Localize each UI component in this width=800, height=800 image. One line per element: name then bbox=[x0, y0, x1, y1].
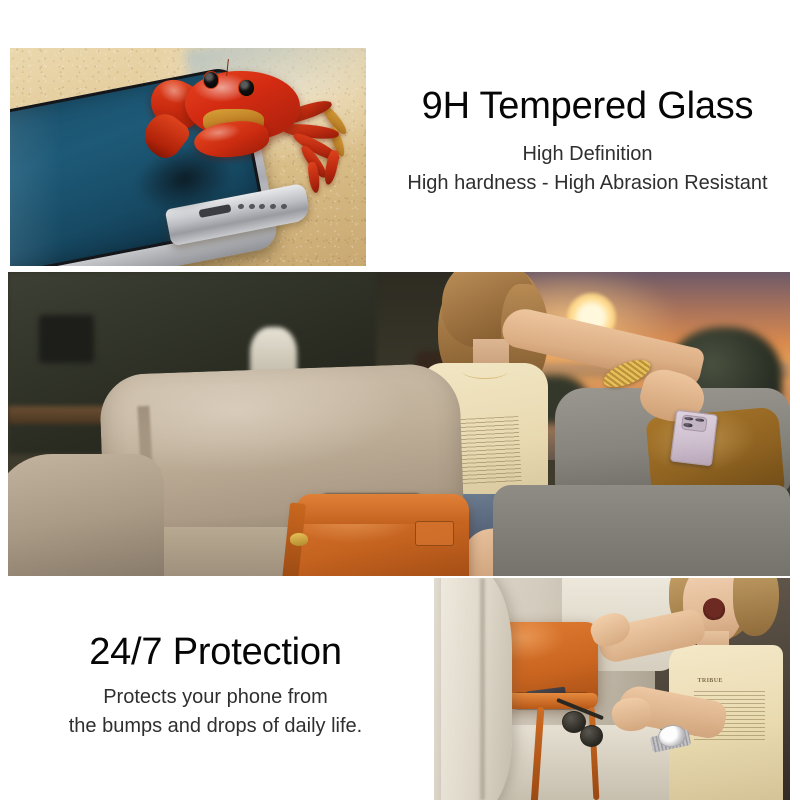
tempered-glass-headline: 9H Tempered Glass bbox=[380, 86, 795, 126]
handbag-flap bbox=[297, 494, 469, 524]
protection-headline: 24/7 Protection bbox=[18, 632, 413, 672]
phone-camera-module bbox=[680, 414, 707, 432]
protection-subtitle-line-1: Protects your phone from bbox=[18, 683, 413, 711]
tempered-glass-text-block: 9H Tempered Glass High Definition High h… bbox=[380, 86, 795, 197]
tank-top-label: TRIBUE bbox=[697, 678, 722, 684]
beige-sofa-armrest bbox=[8, 454, 164, 576]
red-crab bbox=[145, 59, 366, 216]
living-room-photo bbox=[8, 272, 790, 576]
sofa-wing-seam bbox=[480, 578, 485, 800]
protection-subtitle-line-2: the bumps and drops of daily life. bbox=[18, 712, 413, 740]
handbag-tag bbox=[415, 521, 454, 545]
shocked-woman-photo: TRIBUE bbox=[434, 578, 790, 800]
sofa-wing-armrest bbox=[441, 578, 512, 800]
held-smartphone bbox=[670, 409, 718, 465]
crab-eye bbox=[203, 71, 220, 88]
crab-on-phone-photo bbox=[10, 48, 366, 266]
tempered-glass-subtitle-line-2: High hardness - High Abrasion Resistant bbox=[380, 169, 795, 197]
grey-sofa-seat bbox=[493, 485, 790, 576]
sunglasses-lens bbox=[580, 725, 603, 747]
handbag-clasp bbox=[290, 533, 309, 545]
infographic-page: 9H Tempered Glass High Definition High h… bbox=[0, 0, 800, 800]
protection-text-block: 24/7 Protection Protects your phone from… bbox=[18, 632, 413, 740]
crab-eye bbox=[238, 79, 255, 96]
shelf-object bbox=[39, 315, 94, 364]
tempered-glass-subtitle-line-1: High Definition bbox=[380, 140, 795, 168]
